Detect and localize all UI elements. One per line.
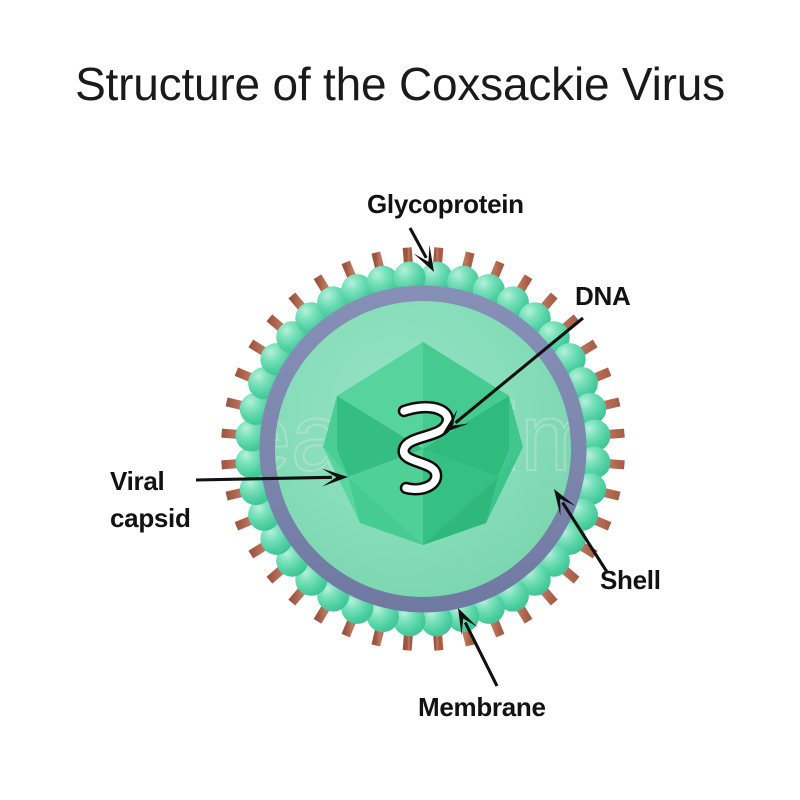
label-viral-capsid-line1: Viral	[110, 466, 164, 496]
leader-line-glycoprotein	[410, 228, 426, 258]
page-title: Structure of the Coxsackie Virus	[75, 58, 725, 110]
label-membrane: Membrane	[418, 692, 546, 722]
leader-line-membrane	[465, 622, 497, 686]
label-glycoprotein: Glycoprotein	[367, 189, 524, 219]
diagram-canvas: Structure of the Coxsackie Virus dreamst…	[0, 0, 800, 800]
label-shell: Shell	[600, 565, 661, 595]
label-dna: DNA	[575, 281, 631, 311]
virus-structure-illustration: Structure of the Coxsackie Virus dreamst…	[0, 0, 800, 800]
label-viral-capsid-line2: capsid	[110, 503, 191, 533]
